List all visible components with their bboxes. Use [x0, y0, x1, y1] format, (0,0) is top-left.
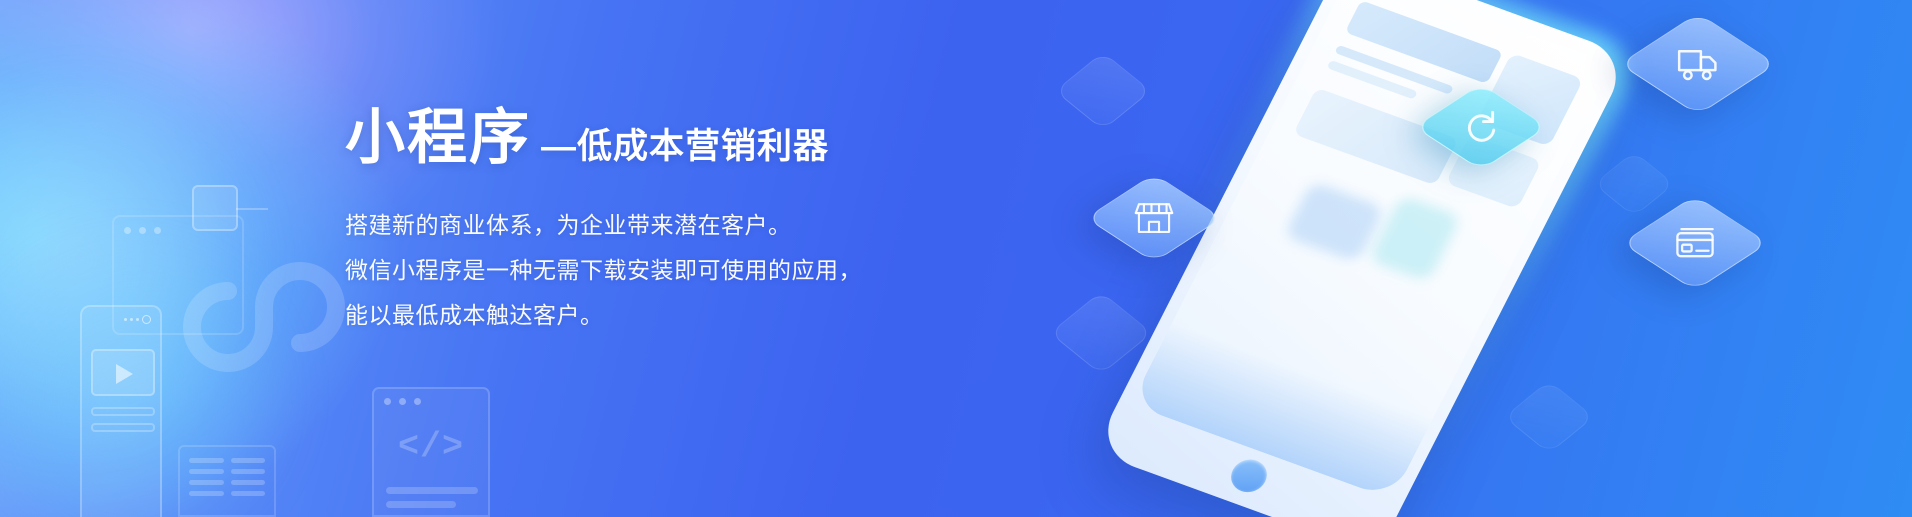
banner-description: 搭建新的商业体系，为企业带来潜在客户。 微信小程序是一种无需下载安装即可使用的应… [345, 210, 965, 330]
headline-main-text: 小程序 [345, 108, 531, 168]
code-line-watermark [386, 501, 456, 508]
panel-square-watermark [192, 185, 238, 231]
video-thumbnail-watermark [91, 349, 155, 396]
screen-banner-block [1345, 0, 1503, 84]
delivery-truck-icon-card: 物流配送 [1619, 13, 1777, 115]
floating-square-decoration [1504, 380, 1595, 453]
glow-highlight-cyan [0, 230, 320, 517]
content-bar-watermark [91, 407, 155, 416]
media-phone-watermark [80, 305, 162, 517]
content-bar-watermark [91, 423, 155, 432]
screen-soft-shape [1284, 181, 1386, 263]
floating-square-decoration [1055, 52, 1152, 130]
floating-square-decoration [1593, 151, 1674, 217]
banner-copy: 小程序 —低成本营销利器 搭建新的商业体系，为企业带来潜在客户。 微信小程序是一… [345, 108, 965, 330]
status-bar-watermark [124, 315, 151, 324]
list-column [189, 458, 224, 504]
code-line-watermark [386, 487, 478, 494]
description-line: 能以最低成本触达客户。 [345, 300, 965, 331]
credit-card-icon-card: 支付 [1621, 195, 1768, 291]
list-card-watermark [178, 445, 276, 517]
phone-home-button [1225, 455, 1273, 497]
delivery-truck-icon [1675, 41, 1721, 87]
window-dots [124, 227, 161, 234]
banner-headline: 小程序 —低成本营销利器 [345, 108, 965, 168]
description-line: 搭建新的商业体系，为企业带来潜在客户。 [345, 210, 965, 241]
sync-refresh-icon [1461, 107, 1500, 146]
glow-highlight-purple [0, 60, 300, 460]
phone-illustration: 物流配送 同步刷新 门店 [1052, 0, 1912, 517]
mini-program-promo-banner: </> 小程序 —低成本营销利器 搭建新的商业体系，为企业带来潜在客户。 微信小… [0, 0, 1912, 517]
screen-footer-gradient [1131, 322, 1434, 499]
description-line: 微信小程序是一种无需下载安装即可使用的应用， [345, 255, 965, 286]
connector-line-watermark [236, 208, 268, 210]
list-column [231, 458, 266, 504]
screen-soft-shape [1368, 194, 1462, 282]
play-icon [116, 364, 133, 384]
mini-program-logo-watermark [160, 235, 360, 435]
browser-window-watermark [112, 215, 244, 335]
code-brackets-icon: </> [374, 427, 488, 467]
credit-card-icon [1673, 221, 1716, 264]
window-dots [384, 398, 421, 405]
code-window-watermark: </> [372, 387, 490, 517]
storefront-icon [1134, 198, 1174, 238]
headline-sub-text: —低成本营销利器 [541, 129, 829, 164]
